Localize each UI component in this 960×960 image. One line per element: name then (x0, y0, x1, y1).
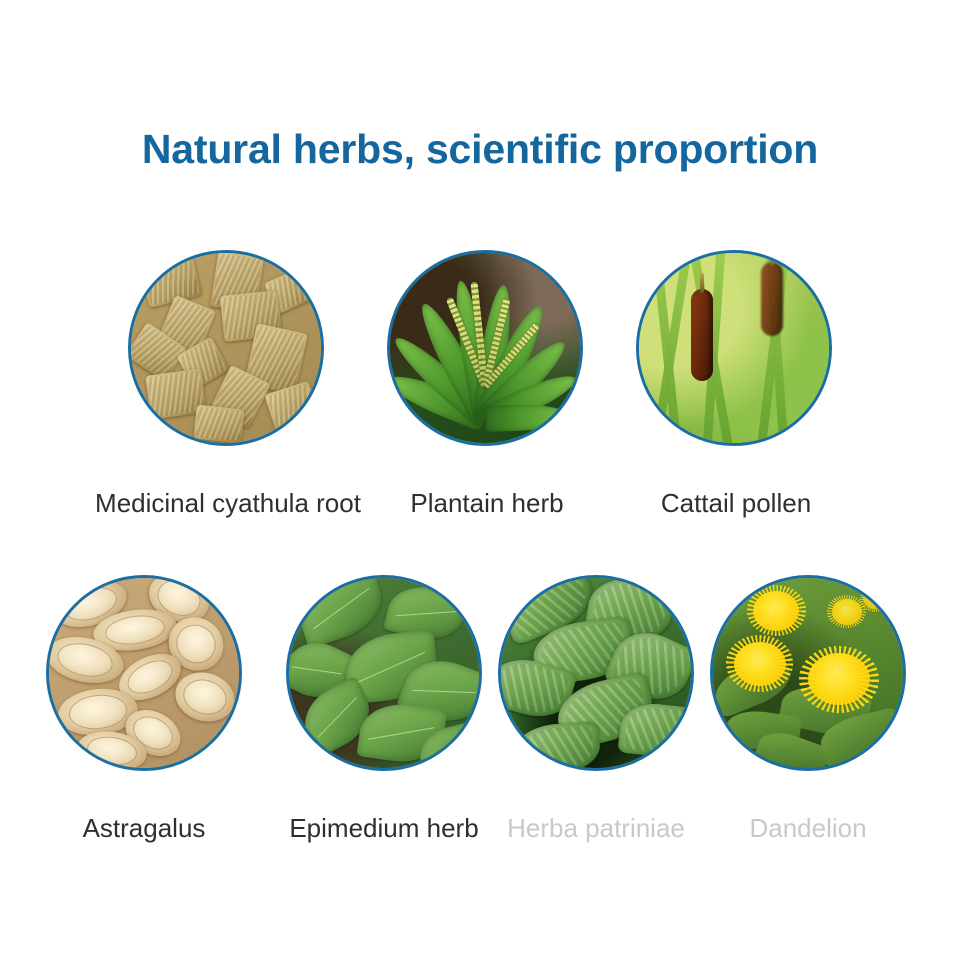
herb-card-cyathula-root[interactable]: Medicinal cyathula root (128, 250, 324, 446)
herb-card-plantain-herb[interactable]: Plantain herb (387, 250, 583, 446)
cyathula-root-photo (128, 250, 324, 446)
herb-label-cattail-pollen: Cattail pollen (526, 488, 946, 519)
page-title: Natural herbs, scientific proportion (0, 126, 960, 173)
astragalus-photo (46, 575, 242, 771)
herb-card-astragalus[interactable]: Astragalus (46, 575, 242, 771)
herb-card-herba-patriniae[interactable]: Herba patriniae (498, 575, 694, 771)
cattail-pollen-photo (636, 250, 832, 446)
plantain-herb-photo (387, 250, 583, 446)
herb-card-cattail-pollen[interactable]: Cattail pollen (636, 250, 832, 446)
herb-label-dandelion: Dandelion (598, 813, 960, 844)
herba-patriniae-photo (498, 575, 694, 771)
herb-card-dandelion[interactable]: Dandelion (710, 575, 906, 771)
herb-card-epimedium-herb[interactable]: Epimedium herb (286, 575, 482, 771)
dandelion-photo (710, 575, 906, 771)
herb-poster: Natural herbs, scientific proportion (0, 0, 960, 960)
epimedium-herb-photo (286, 575, 482, 771)
